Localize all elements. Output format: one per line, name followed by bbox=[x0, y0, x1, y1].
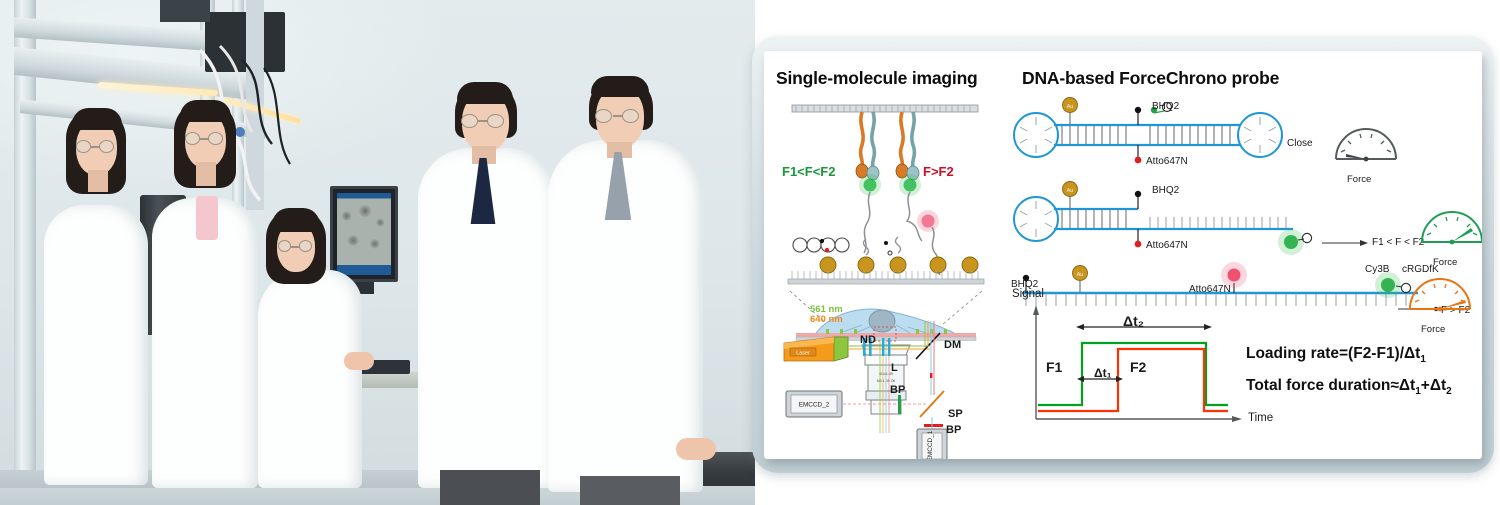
supported-lipid-bilayer-top bbox=[792, 105, 978, 112]
force-gauge-open bbox=[1404, 273, 1476, 323]
person-2-inner-shirt bbox=[196, 196, 218, 240]
label-dichroic-mirror: DM bbox=[944, 339, 961, 351]
person-1-glasses bbox=[76, 140, 118, 154]
label-force-gauge-closed: Force bbox=[1347, 174, 1371, 185]
label-bandpass-2: BP bbox=[946, 424, 961, 436]
chart-label-dt1: Δt₁ bbox=[1094, 366, 1112, 380]
label-force-high: F>F2 bbox=[923, 164, 954, 179]
equation-loading-rate: Loading rate=(F2-F1)/Δt1 bbox=[1246, 345, 1426, 365]
equation-duration-text: Total force duration≈Δt bbox=[1246, 377, 1415, 394]
equation-loading-rate-sub: 1 bbox=[1420, 354, 1426, 365]
person-4-hair-top bbox=[457, 82, 513, 104]
chart-label-f1: F1 bbox=[1046, 359, 1062, 375]
person-1-neck bbox=[88, 170, 108, 192]
person-2-neck bbox=[196, 162, 216, 186]
label-bhq2-row1: BHQ2 bbox=[1152, 101, 1179, 112]
cy3b-green-emission-spots bbox=[859, 174, 921, 196]
camera-emccd2: EMCCD_2 bbox=[786, 391, 842, 417]
probe-row-closed: Au bbox=[1014, 98, 1282, 164]
label-bandpass-1: BP bbox=[890, 384, 905, 396]
person-5-trousers bbox=[580, 476, 680, 505]
chart-xlabel: Time bbox=[1248, 412, 1273, 424]
gold-nanoparticles bbox=[820, 257, 978, 273]
chart-y-arrow bbox=[1033, 305, 1039, 315]
svg-text:Laser: Laser bbox=[796, 350, 810, 356]
person-2-glasses bbox=[185, 132, 227, 146]
person-5-hand bbox=[676, 438, 716, 460]
person-4-trousers bbox=[440, 470, 540, 505]
person-1-lab-coat bbox=[44, 205, 148, 485]
integrin-receptor-pair-1 bbox=[856, 112, 879, 180]
optical-path-schematic: Laser bbox=[778, 321, 1000, 459]
label-nd-filter: ND bbox=[860, 334, 876, 346]
laboratory-group-photo bbox=[0, 0, 755, 505]
atto647n-red-emission-spot bbox=[917, 210, 939, 232]
laser-source: Laser bbox=[784, 337, 848, 361]
person-1-hair-front bbox=[72, 108, 122, 130]
force-gauge-closed bbox=[1330, 123, 1402, 173]
bandpass-filter-1 bbox=[898, 395, 901, 414]
equipment-box-top-2 bbox=[160, 0, 210, 22]
chart-ylabel: Signal bbox=[1012, 288, 1044, 300]
label-force-gauge-open: Force bbox=[1421, 324, 1445, 335]
equation-total-duration: Total force duration≈Δt1+Δt2 bbox=[1246, 377, 1452, 397]
diagram-card: Single-molecule imaging DNA-based ForceC… bbox=[764, 51, 1482, 459]
lens-element bbox=[882, 338, 890, 356]
label-atto647n-row1: Atto647N bbox=[1146, 156, 1188, 167]
label-atto647n-row3: Atto647N bbox=[1189, 284, 1231, 295]
person-4-glasses bbox=[461, 114, 509, 129]
person-3-hand bbox=[344, 352, 374, 370]
panel-title-single-molecule-imaging: Single-molecule imaging bbox=[776, 68, 978, 89]
integrin-receptor-pair-2 bbox=[896, 112, 919, 180]
person-5-glasses bbox=[595, 109, 644, 124]
figure-root: Single-molecule imaging DNA-based ForceC… bbox=[0, 0, 1500, 505]
person-5-hair-top bbox=[591, 76, 649, 97]
equation-duration-plus: +Δt bbox=[1421, 377, 1446, 394]
equation-duration-sub-2: 2 bbox=[1446, 386, 1452, 397]
diagram-panel: Single-molecule imaging DNA-based ForceC… bbox=[752, 36, 1494, 473]
bandpass-filter-2 bbox=[924, 424, 943, 427]
svg-text:Au: Au bbox=[1077, 272, 1084, 278]
person-3-lab-coat bbox=[258, 270, 362, 488]
svg-text:EMCCD_1: EMCCD_1 bbox=[927, 430, 934, 459]
probe-row-partially-open: Au bbox=[1014, 182, 1368, 256]
label-bhq2-row2: BHQ2 bbox=[1152, 185, 1179, 196]
vertical-beam-up bbox=[925, 321, 934, 395]
equation-loading-rate-text: Loading rate=(F2-F1)/Δt bbox=[1246, 345, 1420, 362]
closed-hairpin-probes bbox=[793, 237, 901, 255]
panel-title-dna-forcechrono-probe: DNA-based ForceChrono probe bbox=[1022, 68, 1279, 89]
functionalized-coverslip bbox=[788, 271, 984, 284]
label-force-low: F1<F<F2 bbox=[782, 164, 835, 179]
label-state-close: Close bbox=[1287, 138, 1313, 149]
chart-label-dt2: Δt₂ bbox=[1123, 313, 1144, 329]
person-2-hair-front bbox=[180, 100, 231, 122]
label-short-pass: SP bbox=[948, 408, 963, 420]
monitor bbox=[330, 186, 398, 282]
label-force-gauge-partial: Force bbox=[1433, 257, 1457, 268]
force-gauge-partial bbox=[1416, 206, 1482, 256]
camera-emccd1: EMCCD_1 bbox=[917, 429, 947, 459]
person-3-glasses bbox=[278, 240, 316, 253]
chart-x-arrow bbox=[1232, 416, 1242, 422]
person-3-hair-bangs bbox=[272, 208, 320, 232]
svg-text:Au: Au bbox=[1067, 188, 1074, 194]
monitor-screen-microscopy-images bbox=[337, 193, 391, 275]
label-atto647n-row2: Atto647N bbox=[1146, 240, 1188, 251]
svg-text:Au: Au bbox=[1067, 104, 1074, 110]
label-lens: L bbox=[891, 362, 898, 374]
svg-text:EMCCD_2: EMCCD_2 bbox=[799, 402, 830, 409]
chart-label-f2: F2 bbox=[1130, 359, 1146, 375]
person-2-lab-coat bbox=[152, 198, 258, 488]
label-cy3b: Cy3B bbox=[1365, 264, 1389, 275]
